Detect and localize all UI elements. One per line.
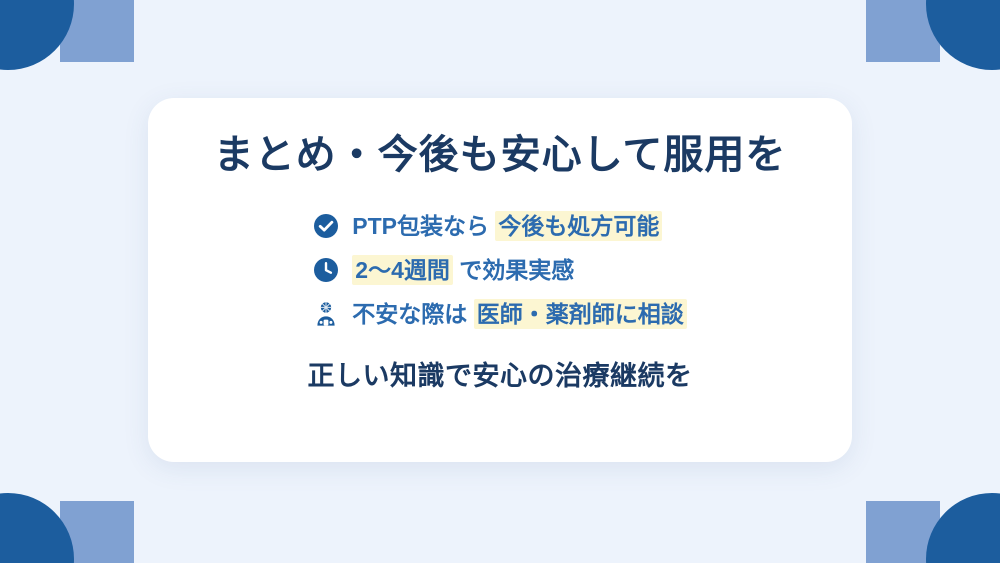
bullet-text: PTP包装なら 今後も処方可能 [352,212,662,241]
corner-top-right-circle [926,0,1000,70]
list-item: 2〜4週間 で効果実感 [313,256,686,285]
check-circle-icon [313,213,339,239]
corner-bottom-left-square [60,501,134,563]
page-title: まとめ・今後も安心して服用を [214,132,787,178]
list-item: 不安な際は 医師・薬剤師に相談 [313,300,686,329]
bullet-lead: PTP包装なら [352,213,495,239]
corner-bottom-left-circle [0,493,74,563]
bullet-text: 不安な際は 医師・薬剤師に相談 [352,300,686,329]
bullet-highlight: 2〜4週間 [352,255,453,285]
corner-top-right-square [866,0,940,62]
list-item: PTP包装なら 今後も処方可能 [313,212,686,241]
doctor-icon [313,301,339,327]
corner-bottom-right-square [866,501,940,563]
bullet-highlight: 今後も処方可能 [495,211,662,241]
summary-card: まとめ・今後も安心して服用を PTP包装なら 今後も処方可能 2〜4週間 で効果… [148,98,852,462]
bullet-text: 2〜4週間 で効果実感 [352,256,574,285]
corner-top-left-circle [0,0,74,70]
closing-statement: 正しい知識で安心の治療継続を [308,354,693,393]
summary-bullet-list: PTP包装なら 今後も処方可能 2〜4週間 で効果実感 [313,212,686,328]
bullet-trail: で効果実感 [453,257,574,283]
bullet-highlight: 医師・薬剤師に相談 [474,299,687,329]
clock-icon [313,257,339,283]
corner-bottom-right-circle [926,493,1000,563]
corner-top-left-square [60,0,134,62]
bullet-lead: 不安な際は [352,301,473,327]
